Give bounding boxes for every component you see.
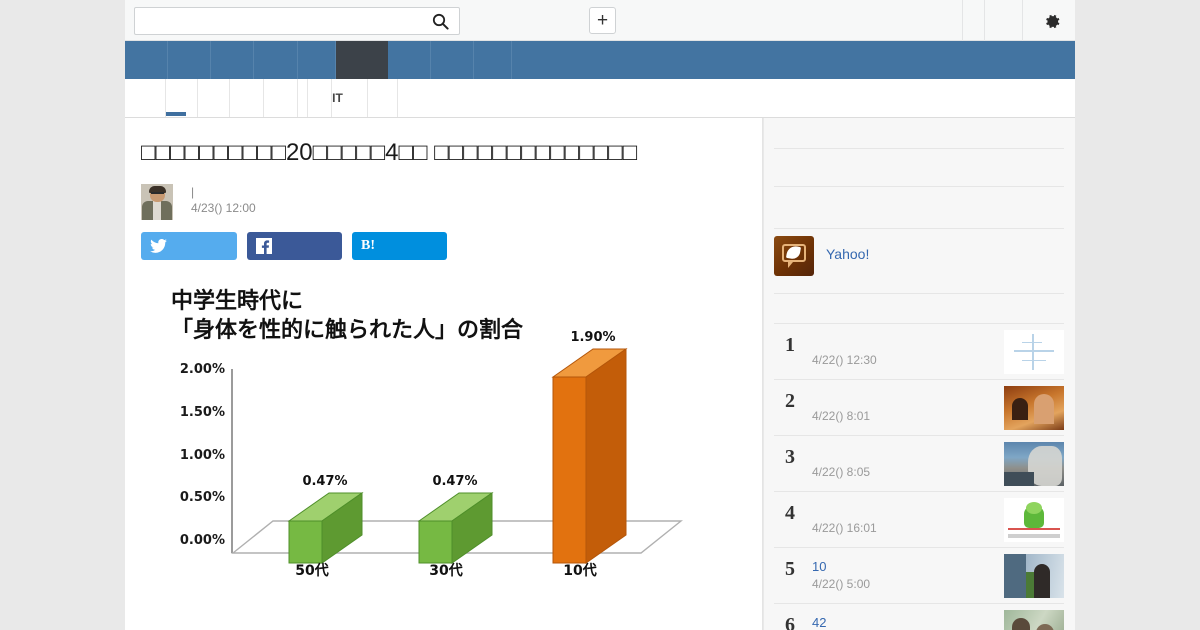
people-warm-thumbnail: [1004, 386, 1064, 430]
rank-number: 4: [785, 502, 807, 525]
rank-thumbnail[interactable]: [1004, 554, 1064, 598]
twitter-icon: [150, 239, 167, 253]
chart-xtick-2: 10代: [535, 560, 625, 580]
ranking-item[interactable]: 24/22() 8:01: [774, 380, 1064, 436]
nav-item-label: [254, 41, 297, 79]
facebook-icon: [256, 238, 272, 254]
article-date: 4/23() 12:00: [191, 200, 256, 216]
toolbar-divider: [1022, 0, 1023, 41]
nav-item-label: [168, 41, 210, 79]
category-nav: [125, 41, 1075, 79]
city-woman-thumbnail: [1004, 554, 1064, 598]
sidebar-divider: [774, 148, 1064, 149]
rank-thumbnail[interactable]: [1004, 610, 1064, 630]
share-facebook-button[interactable]: [247, 232, 342, 260]
nav-item-label: [336, 41, 387, 79]
tab-1[interactable]: [197, 79, 229, 117]
rank-thumbnail[interactable]: [1004, 330, 1064, 374]
browser-toolbar: +: [125, 0, 1075, 41]
ranking-item[interactable]: 44/22() 16:01: [774, 492, 1064, 548]
article-figure-chart: 中学生時代に 「身体を性的に触られた人」の割合 2.00% 1.50% 1.00…: [141, 281, 741, 611]
search-box[interactable]: [134, 7, 460, 35]
nav-item-2[interactable]: [211, 41, 254, 79]
ranking-item[interactable]: 14/22() 12:30: [774, 324, 1064, 380]
avatar-shirt: [153, 201, 161, 220]
byline-separator: |: [191, 184, 194, 200]
rank-date: 4/22() 5:00: [812, 577, 870, 591]
toolbar-divider: [962, 0, 963, 41]
tab-8[interactable]: [397, 79, 427, 117]
active-tab-indicator: [166, 112, 186, 116]
ranking-item[interactable]: 34/22() 8:05: [774, 436, 1064, 492]
share-twitter-button[interactable]: [141, 232, 237, 260]
ranking-item[interactable]: 5104/22() 5:00: [774, 548, 1064, 604]
rank-title[interactable]: 10: [812, 559, 992, 575]
rank-number: 1: [785, 334, 807, 357]
rank-title[interactable]: 42: [812, 615, 992, 630]
search-icon[interactable]: [421, 8, 459, 34]
nav-item-label: [431, 41, 473, 79]
nav-item-label: [388, 41, 430, 79]
rank-date: 4/22() 16:01: [812, 521, 877, 535]
sub-tab-strip: IT: [125, 79, 1075, 118]
nav-item-0[interactable]: [125, 41, 168, 79]
browser-page: + IT □□□□□□□□□□20□□□□□4□□ □□□□□□□□□□□□□□: [0, 0, 1200, 630]
avatar[interactable]: [141, 184, 173, 220]
search-input[interactable]: [141, 8, 421, 34]
tab-3[interactable]: [263, 79, 297, 117]
mascot-thumbnail: [1004, 498, 1064, 542]
article-column: □□□□□□□□□□20□□□□□4□□ □□□□□□□□□□□□□□ | 4/…: [125, 118, 763, 630]
toolbar-divider: [984, 0, 985, 41]
nav-item-5[interactable]: [336, 41, 388, 79]
avatar-glasses: [151, 192, 164, 195]
sidebar-divider: [774, 293, 1064, 294]
nav-item-4[interactable]: [298, 41, 336, 79]
nav-item-1[interactable]: [168, 41, 211, 79]
nav-item-label: [298, 41, 335, 79]
chart-value-label-2: 1.90%: [553, 330, 633, 345]
rank-thumbnail[interactable]: [1004, 442, 1064, 486]
yahoo-link[interactable]: Yahoo!: [826, 246, 869, 262]
rank-number: 5: [785, 558, 807, 581]
sidebar-divider: [774, 228, 1064, 229]
rank-date: 4/22() 12:30: [812, 353, 877, 367]
rank-number: 3: [785, 446, 807, 469]
sidebar-yahoo-block[interactable]: Yahoo!: [774, 234, 1064, 290]
ranking-item[interactable]: 642: [774, 604, 1064, 630]
rank-date: 4/22() 8:01: [812, 409, 870, 423]
tab-2[interactable]: [229, 79, 263, 117]
hatena-label: B!: [361, 238, 375, 254]
gear-icon[interactable]: [1038, 7, 1066, 35]
nav-item-7[interactable]: [431, 41, 474, 79]
rank-number: 6: [785, 614, 807, 630]
byline: | 4/23() 12:00: [141, 184, 741, 224]
nav-item-label: [474, 41, 511, 79]
rank-thumbnail[interactable]: [1004, 498, 1064, 542]
nav-item-label: [211, 41, 253, 79]
sidebar: Yahoo! 14/22() 12:3024/22() 8:0134/22() …: [764, 118, 1075, 630]
chart-bar-2: [141, 281, 741, 611]
tab-it[interactable]: IT: [307, 79, 367, 117]
rank-date: 4/22() 8:05: [812, 465, 870, 479]
nav-item-6[interactable]: [388, 41, 431, 79]
nav-item-3[interactable]: [254, 41, 298, 79]
new-tab-button[interactable]: +: [589, 7, 616, 34]
rank-thumbnail[interactable]: [1004, 386, 1064, 430]
rank-number: 2: [785, 390, 807, 413]
volcano-thumbnail: [1004, 442, 1064, 486]
yahoo-news-icon: [774, 236, 814, 276]
tab-7[interactable]: [367, 79, 397, 117]
page-title: □□□□□□□□□□20□□□□□4□□ □□□□□□□□□□□□□□: [141, 136, 747, 170]
share-hatena-button[interactable]: B!: [352, 232, 447, 260]
nav-item-label: [125, 41, 167, 79]
nav-item-8[interactable]: [474, 41, 512, 79]
diagram-thumbnail: [1004, 330, 1064, 374]
sidebar-divider: [774, 186, 1064, 187]
people-outdoor-thumbnail: [1004, 610, 1064, 630]
